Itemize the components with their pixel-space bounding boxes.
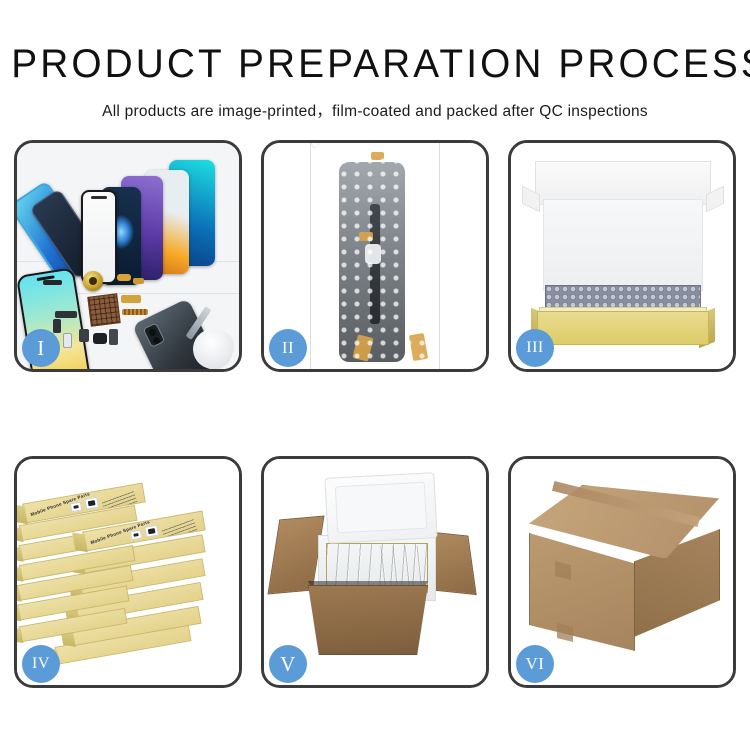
- tape-tab: [371, 152, 384, 160]
- carton-tape-patch: [557, 623, 573, 642]
- box-inner-wall: [543, 199, 703, 291]
- small-part: [117, 274, 131, 281]
- small-part: [109, 329, 118, 345]
- process-step-5: V: [261, 456, 489, 688]
- tape-tab: [359, 232, 373, 241]
- connector: [365, 244, 381, 264]
- step-badge-1: I: [22, 329, 60, 367]
- carton-left-face: [529, 533, 635, 651]
- process-step-4: Mobile Phone Spare Parts Mobile Phone Sp…: [14, 456, 242, 688]
- product-preparation-infographic: PRODUCT PREPARATION PROCESS All products…: [0, 0, 750, 750]
- flex-cable: [370, 204, 380, 324]
- small-part: [79, 329, 89, 342]
- header: PRODUCT PREPARATION PROCESS All products…: [0, 0, 750, 120]
- step-badge-3: III: [516, 329, 554, 367]
- wrapped-part: [339, 162, 405, 362]
- bubble-wrap-bag: [310, 143, 440, 369]
- page-title: PRODUCT PREPARATION PROCESS: [11, 44, 739, 84]
- flex-cable-part: [122, 309, 148, 315]
- speaker-coil-part: [83, 271, 103, 291]
- step-badge-4: IV: [22, 645, 60, 683]
- step-badge-2: II: [269, 329, 307, 367]
- tape-tab: [352, 334, 373, 361]
- process-step-2: II: [261, 140, 489, 372]
- small-part: [55, 311, 77, 318]
- small-part: [133, 278, 144, 284]
- process-step-grid: I II: [14, 140, 736, 680]
- small-part: [53, 319, 61, 333]
- page-subtitle: All products are image-printed，film-coat…: [0, 104, 750, 120]
- step-badge-5: V: [269, 645, 307, 683]
- step-badge-6: VI: [516, 645, 554, 683]
- small-part: [93, 333, 107, 344]
- small-part: [63, 333, 72, 348]
- small-part: [43, 280, 62, 285]
- glass-screen-protector: [81, 190, 117, 284]
- process-step-6: VI: [508, 456, 736, 688]
- tape-tab: [409, 333, 428, 361]
- retail-box-label-text: Mobile Phone Spare Parts: [30, 491, 91, 517]
- process-step-3: III: [508, 140, 736, 372]
- carton-body: [308, 585, 428, 655]
- small-part: [121, 295, 141, 303]
- foam-lid: [324, 472, 437, 544]
- process-step-1: I: [14, 140, 242, 372]
- box-front-panel: [537, 311, 709, 345]
- circuit-board-part: [87, 293, 120, 326]
